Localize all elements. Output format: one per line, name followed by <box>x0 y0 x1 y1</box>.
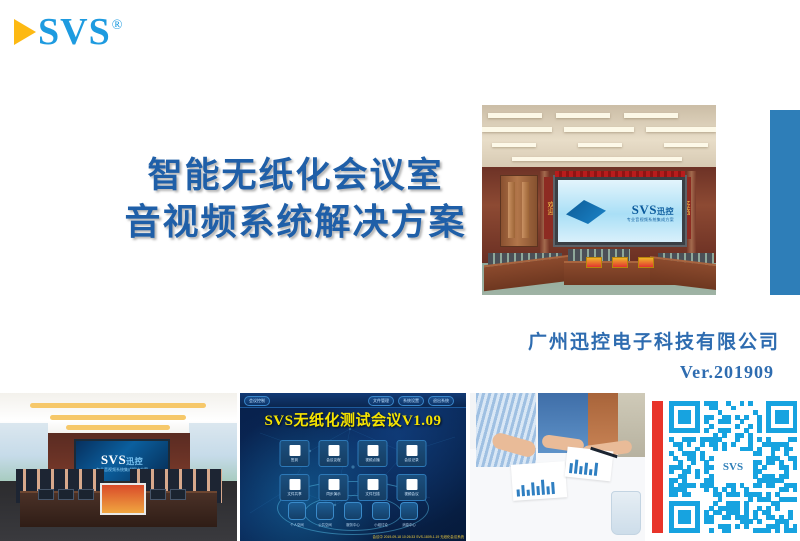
grid-button-1[interactable]: 会议议程 <box>319 440 349 467</box>
screen-subtitle: 专业音视频系统集成方案 <box>627 217 674 223</box>
red-banner <box>555 171 685 177</box>
grid-button-4[interactable]: 文件共享 <box>280 474 310 501</box>
video-icon <box>367 445 378 456</box>
triangle-icon <box>14 19 36 45</box>
dock-button-3[interactable]: 小组讨论 <box>372 502 390 527</box>
screen-brand-latin: SVS <box>632 202 657 217</box>
grid-button-7[interactable]: 视频会议 <box>397 474 427 501</box>
screen-brand-cn: 迅控 <box>657 207 674 216</box>
logo-text: SVS <box>38 13 111 51</box>
desk-monitor-1 <box>38 489 54 500</box>
grid-button-3[interactable]: 会议记录 <box>397 440 427 467</box>
title-line-2: 音视频系统解决方案 <box>108 199 483 246</box>
screen-brand-latin: SVS <box>101 452 126 467</box>
bar-chart-icon <box>569 457 599 476</box>
strip-qr-code: SVS <box>648 393 800 541</box>
desk-monitor-3 <box>78 489 94 500</box>
note-icon <box>406 445 417 456</box>
dock-button-4[interactable]: 消息中心 <box>400 502 418 527</box>
ui-function-grid: 签到 会议议程 视频点播 会议记录 文件共享 同步演示 <box>280 440 427 501</box>
grid-button-label: 视频点播 <box>365 458 379 463</box>
accent-bar-right <box>770 110 800 295</box>
version-label: Ver.201909 <box>380 356 780 388</box>
strip-image-collaboration <box>470 393 645 541</box>
desk-monitor-5 <box>170 489 186 500</box>
swoosh-graphic-icon <box>566 200 606 224</box>
grid-button-label: 会议记录 <box>404 458 418 463</box>
grid-button-label: 会议议程 <box>326 458 340 463</box>
qr-center-label: SVS <box>716 456 750 478</box>
screen-brand-text: SVS迅控 <box>632 202 674 218</box>
desk-flag-2 <box>612 257 628 268</box>
screen-brand-cn: 迅控 <box>126 457 143 466</box>
dock-button-1[interactable]: 公共空间 <box>316 502 334 527</box>
user-icon <box>288 502 306 520</box>
grid-button-label: 同步演示 <box>326 492 340 497</box>
registered-trademark-icon: ® <box>112 18 123 34</box>
bottom-image-strip: SVS迅控 专业音视频系统集成解决方案 <box>0 393 800 541</box>
strip-image-paperless-ui: 会议控制 文件管理 系统设置 退出系统 SVS无纸化测试会议V1.09 签到 会… <box>240 393 466 541</box>
dock-button-label: 消息中心 <box>402 522 416 527</box>
topbar-button-1[interactable]: 文件管理 <box>368 396 394 406</box>
grid-button-6[interactable]: 文件扫描 <box>358 474 388 501</box>
dock-button-label: 个人空间 <box>290 522 304 527</box>
bar-chart-icon <box>516 478 555 497</box>
screen-brand: SVS迅控 <box>101 452 143 468</box>
hero-conference-room-image: 欢迎 莅临 SVS迅控 专业音视频系统集成方案 <box>482 105 716 295</box>
company-block: 广州迅控电子科技有限公司 Ver.201909 <box>380 330 780 388</box>
topbar-button-2[interactable]: 系统设置 <box>398 396 424 406</box>
document-icon <box>328 445 339 456</box>
topbar-button-3[interactable]: 退出系统 <box>428 396 454 406</box>
dock-button-label: 服务中心 <box>346 522 360 527</box>
ui-status-ticker: 会议中 2019-09-18 10:26:33 SVS-1809-1.19 无纸… <box>373 535 464 540</box>
desk-flag-1 <box>586 257 602 268</box>
camera-icon <box>367 479 378 490</box>
dock-button-0[interactable]: 个人空间 <box>288 502 306 527</box>
red-accent-bar <box>652 401 663 533</box>
topbar-button-0[interactable]: 会议控制 <box>244 396 270 406</box>
svs-logo: SVS ® <box>14 10 122 54</box>
led-display-screen: SVS迅控 专业音视频系统集成方案 <box>555 177 685 245</box>
grid-button-label: 文件扫描 <box>365 492 379 497</box>
group-icon <box>372 502 390 520</box>
gear-icon <box>344 502 362 520</box>
grid-button-0[interactable]: 签到 <box>280 440 310 467</box>
desk-monitor-4 <box>150 489 166 500</box>
desk-flag-3 <box>638 257 654 268</box>
message-icon <box>400 502 418 520</box>
grid-button-2[interactable]: 视频点播 <box>358 440 388 467</box>
strip-image-conference-room: SVS迅控 专业音视频系统集成解决方案 <box>0 393 237 541</box>
chart-paper-1 <box>511 461 567 501</box>
ui-dock: 个人空间 公共空间 服务中心 小组讨论 消息中心 <box>288 502 418 527</box>
water-glass <box>611 491 641 535</box>
desk-monitor-2 <box>58 489 74 500</box>
page-title: 智能无纸化会议室 音视频系统解决方案 <box>108 152 483 246</box>
folder-icon <box>289 479 300 490</box>
chat-icon <box>316 502 334 520</box>
door <box>500 175 538 247</box>
clipboard-icon <box>289 445 300 456</box>
grid-button-5[interactable]: 同步演示 <box>319 474 349 501</box>
side-banner-left: 欢迎 <box>544 177 555 239</box>
title-line-1: 智能无纸化会议室 <box>108 152 483 199</box>
center-display <box>100 483 146 515</box>
grid-button-label: 视频会议 <box>404 492 418 497</box>
dock-button-2[interactable]: 服务中心 <box>344 502 362 527</box>
dock-button-label: 小组讨论 <box>374 522 388 527</box>
ui-title: SVS无纸化测试会议V1.09 <box>240 409 466 430</box>
briefcase-icon <box>406 479 417 490</box>
ceiling <box>482 105 716 169</box>
grid-button-label: 文件共享 <box>287 492 301 497</box>
dock-button-label: 公共空间 <box>318 522 332 527</box>
sync-icon <box>328 479 339 490</box>
qr-code-image: SVS <box>669 401 797 533</box>
company-name: 广州迅控电子科技有限公司 <box>380 330 780 356</box>
grid-button-label: 签到 <box>291 458 298 463</box>
